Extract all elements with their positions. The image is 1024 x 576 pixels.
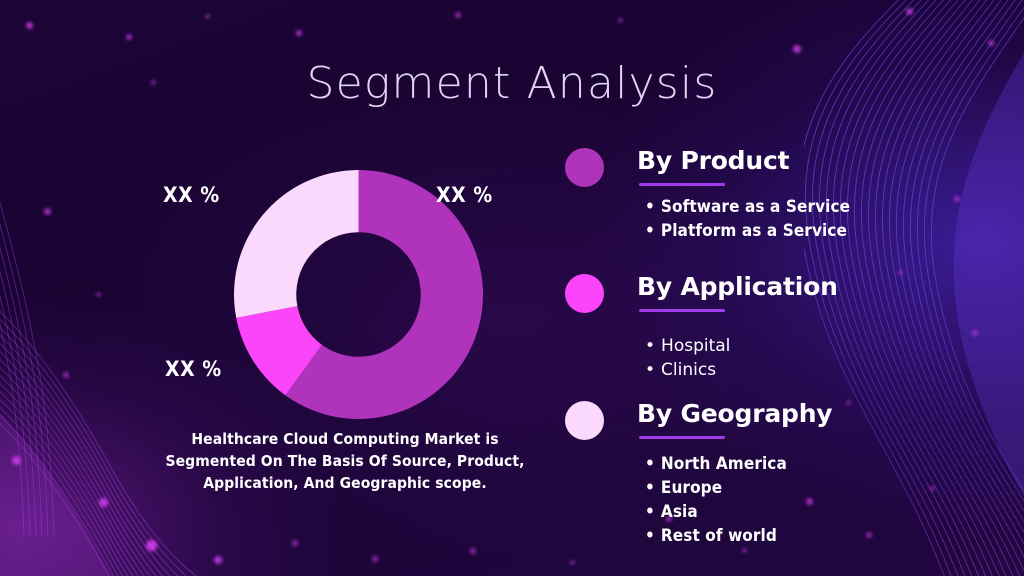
legend-heading-by-application: By Application (637, 272, 838, 302)
donut-slice-group (234, 170, 483, 419)
list-item-label: North America (661, 454, 787, 474)
pct-label-by-product: XX % (436, 183, 493, 207)
list-item-label: Asia (661, 502, 698, 522)
list-item-label: Europe (661, 478, 722, 498)
background-dot (988, 40, 994, 46)
pct-label-by-geography: XX % (163, 183, 220, 207)
donut-chart (234, 170, 483, 419)
background-dot (470, 548, 476, 554)
background-dot (205, 14, 210, 19)
legend-heading-by-geography: By Geography (637, 399, 832, 429)
legend-group-by-application[interactable]: By Application •Hospital •Clinics (565, 272, 838, 382)
list-bullet-icon: • (645, 360, 655, 380)
list-item-label: Clinics (661, 360, 716, 380)
list-item: •Asia (645, 500, 832, 524)
list-bullet-icon: • (645, 502, 655, 522)
legend-items-by-geography: •North America •Europe •Asia •Rest of wo… (645, 452, 832, 548)
list-item-label: Hospital (661, 336, 730, 356)
legend-items-by-product: •Software as a Service •Platform as a Se… (645, 195, 850, 243)
list-item: •Europe (645, 476, 832, 500)
background-dot (96, 292, 101, 297)
list-bullet-icon: • (645, 197, 655, 217)
background-dot (455, 12, 461, 18)
background-dot (570, 560, 575, 565)
list-item: •Clinics (645, 358, 838, 382)
background-dot (372, 556, 378, 562)
background-dot (972, 330, 978, 336)
legend-bullet-circle-by-application (565, 274, 604, 313)
list-item: •Hospital (645, 334, 838, 358)
legend-bullet-circle-by-geography (565, 401, 604, 440)
legend-bullet-circle-by-product (565, 148, 604, 187)
list-item: •Software as a Service (645, 195, 850, 219)
pct-label-by-application: XX % (165, 357, 222, 381)
background-dot (618, 18, 623, 23)
background-dot (930, 486, 935, 491)
list-bullet-icon: • (645, 221, 655, 241)
donut-chart-svg (234, 170, 483, 419)
background-dot (846, 400, 851, 405)
legend-underline-by-application (639, 309, 725, 312)
list-item: •Rest of world (645, 524, 832, 548)
list-item: •North America (645, 452, 832, 476)
list-bullet-icon: • (645, 454, 655, 474)
background-dot (742, 548, 747, 553)
list-bullet-icon: • (645, 478, 655, 498)
background-dot (146, 540, 157, 551)
list-bullet-icon: • (645, 336, 655, 356)
chart-caption: Healthcare Cloud Computing Market is Seg… (160, 428, 530, 494)
legend-items-by-application: •Hospital •Clinics (645, 334, 838, 382)
background-dot (898, 270, 903, 275)
page-title: Segment Analysis (0, 58, 1024, 109)
list-bullet-icon: • (645, 526, 655, 546)
legend-underline-by-geography (639, 436, 725, 439)
donut-slice-by-geography (234, 170, 359, 318)
list-item-label: Rest of world (661, 526, 777, 546)
background-dot (214, 556, 222, 564)
background-dot (292, 540, 298, 546)
background-dot (296, 30, 302, 36)
background-dot (866, 532, 872, 538)
legend-underline-by-product (639, 183, 725, 186)
background-dot (906, 8, 913, 15)
background-dot (126, 34, 132, 40)
legend-heading-by-product: By Product (637, 146, 850, 176)
list-item-label: Software as a Service (661, 197, 850, 217)
list-item: •Platform as a Service (645, 219, 850, 243)
legend-group-by-geography[interactable]: By Geography •North America •Europe •Asi… (565, 399, 832, 548)
legend-group-by-product[interactable]: By Product •Software as a Service •Platf… (565, 146, 850, 243)
list-item-label: Platform as a Service (661, 221, 847, 241)
background-dot (793, 45, 801, 53)
background-dot (954, 196, 960, 202)
background-dot (12, 456, 21, 465)
background-dot (26, 22, 33, 29)
background-dot (99, 498, 108, 507)
background-dot (63, 372, 69, 378)
background-dot (44, 208, 51, 215)
